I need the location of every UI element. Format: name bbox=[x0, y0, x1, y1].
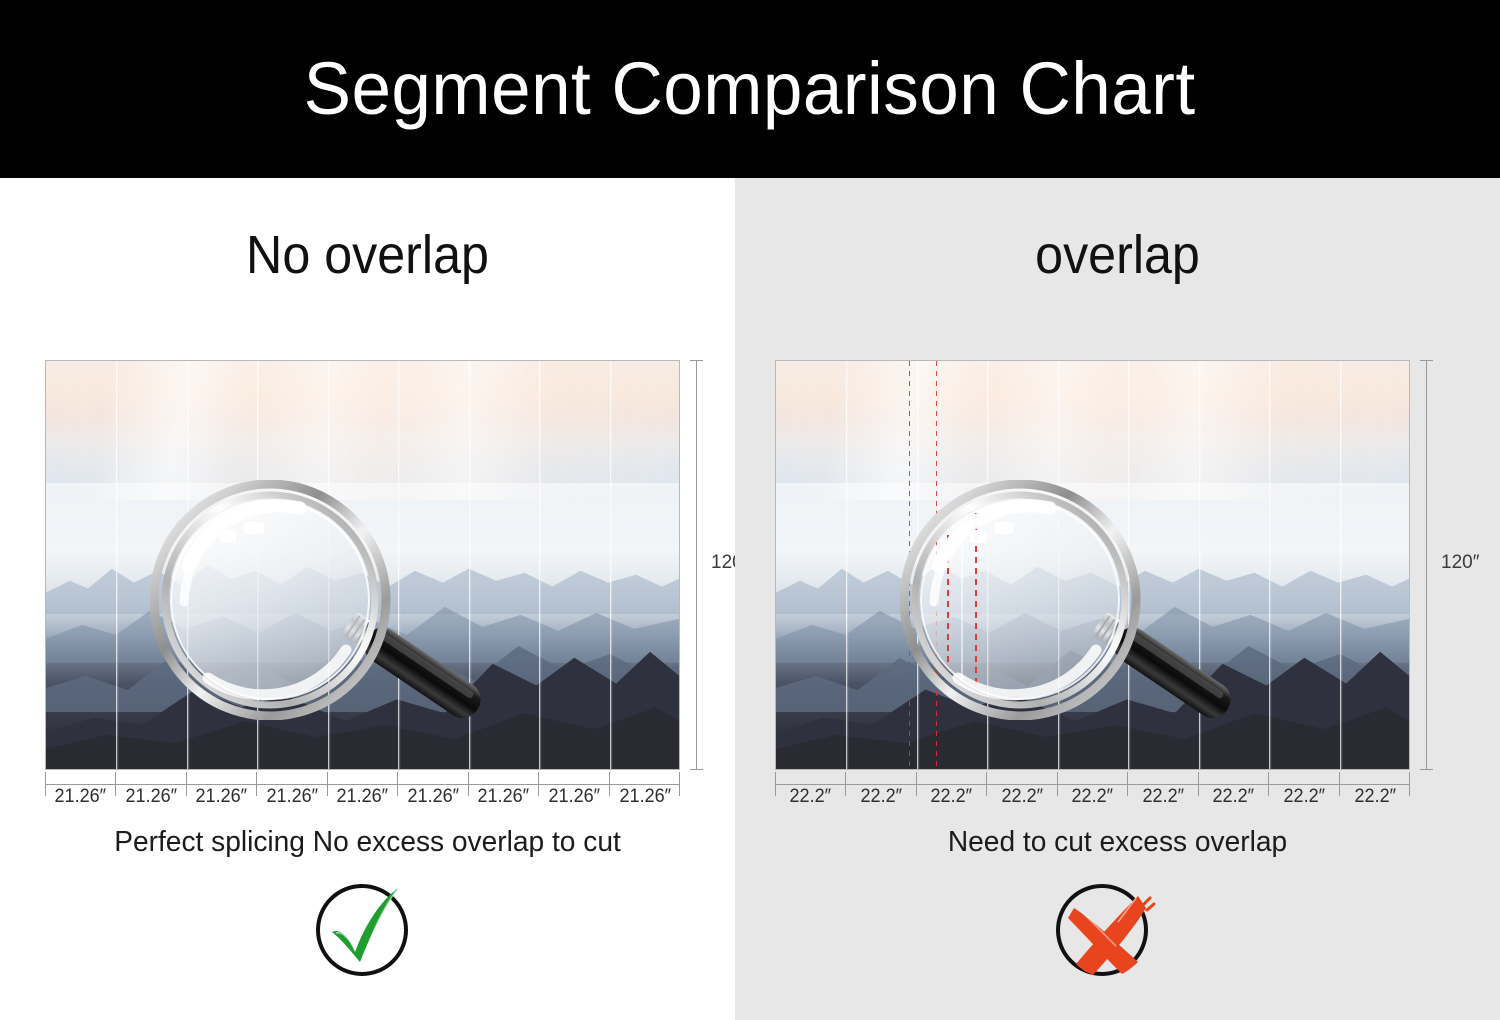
mural-figure-no-overlap: 120″ 21.26″ 21.26″ 21.26″ 21.26″ bbox=[45, 360, 680, 770]
panel-heading-no-overlap: No overlap bbox=[26, 224, 710, 286]
height-dimension-overlap bbox=[1420, 360, 1434, 770]
segment-label: 22.2″ bbox=[1341, 786, 1408, 808]
panel-heading-overlap: overlap bbox=[762, 224, 1473, 286]
magnifier-icon-no-overlap bbox=[150, 480, 530, 720]
segment-label: 21.26″ bbox=[611, 786, 678, 808]
caption-overlap: Need to cut excess overlap bbox=[746, 826, 1488, 859]
segment-labels-overlap: 22.2″ 22.2″ 22.2″ 22.2″ 22.2″ 22.2″ 22.2… bbox=[775, 786, 1410, 808]
segment-label: 21.26″ bbox=[47, 786, 114, 808]
page-title: Segment Comparison Chart bbox=[304, 52, 1196, 126]
segment-label: 21.26″ bbox=[400, 786, 467, 808]
segment-label: 21.26″ bbox=[470, 786, 537, 808]
panel-overlap: overlap bbox=[735, 178, 1500, 1020]
panel-no-overlap: No overlap bbox=[0, 178, 735, 1020]
segment-label: 22.2″ bbox=[1130, 786, 1197, 808]
segment-label: 22.2″ bbox=[1200, 786, 1267, 808]
height-label-overlap: 120″ bbox=[1441, 552, 1479, 574]
segment-dimension-no-overlap: 21.26″ 21.26″ 21.26″ 21.26″ 21.26″ 21.26… bbox=[45, 772, 680, 812]
mural-figure-overlap: 120″ 22.2″ 22.2″ 22.2″ 22.2″ 22.2″ bbox=[775, 360, 1410, 770]
segment-label: 21.26″ bbox=[329, 786, 396, 808]
check-circle-icon bbox=[310, 878, 420, 982]
verdict-badge-overlap bbox=[1052, 878, 1168, 982]
segment-label: 21.26″ bbox=[541, 786, 608, 808]
segment-label: 22.2″ bbox=[1271, 786, 1338, 808]
segment-labels-no-overlap: 21.26″ 21.26″ 21.26″ 21.26″ 21.26″ 21.26… bbox=[45, 786, 680, 808]
segment-comparison-page: Segment Comparison Chart No overlap bbox=[0, 0, 1500, 1020]
sky-clouds bbox=[46, 361, 679, 500]
verdict-badge-no-overlap bbox=[310, 878, 420, 982]
segment-label: 21.26″ bbox=[188, 786, 255, 808]
segment-label: 21.26″ bbox=[258, 786, 325, 808]
magnifier-icon-overlap bbox=[900, 480, 1280, 720]
segment-label: 22.2″ bbox=[777, 786, 844, 808]
caption-no-overlap: Perfect splicing No excess overlap to cu… bbox=[11, 826, 724, 859]
height-dimension-no-overlap bbox=[690, 360, 704, 770]
segment-label: 22.2″ bbox=[1059, 786, 1126, 808]
segment-label: 22.2″ bbox=[988, 786, 1055, 808]
segment-dimension-overlap: 22.2″ 22.2″ 22.2″ 22.2″ 22.2″ 22.2″ 22.2… bbox=[775, 772, 1410, 812]
segment-label: 21.26″ bbox=[117, 786, 184, 808]
segment-label: 22.2″ bbox=[918, 786, 985, 808]
cross-circle-icon bbox=[1052, 878, 1168, 982]
sky-clouds bbox=[776, 361, 1409, 500]
title-banner: Segment Comparison Chart bbox=[0, 0, 1500, 178]
segment-label: 22.2″ bbox=[847, 786, 914, 808]
